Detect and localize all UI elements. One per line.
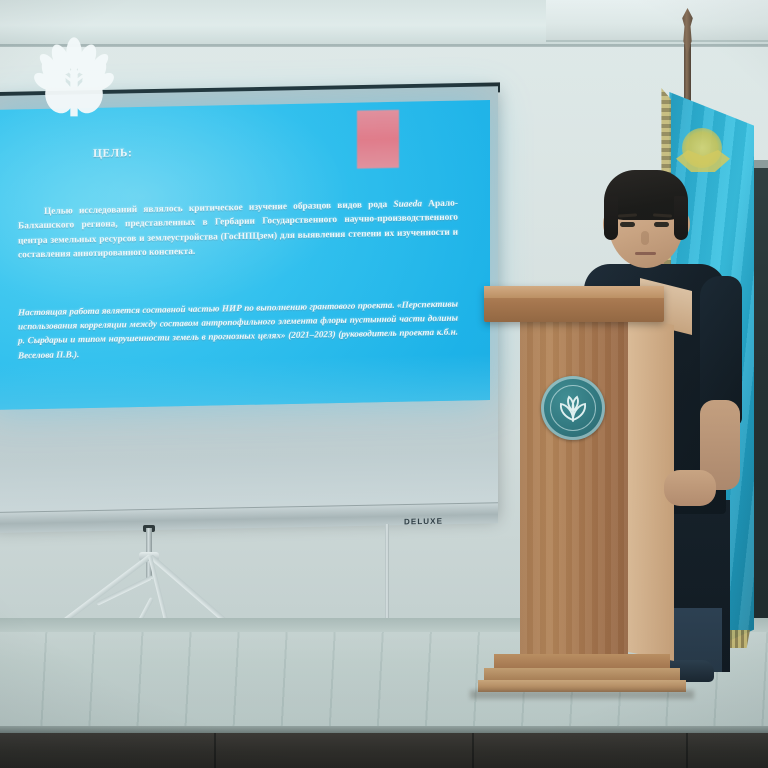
stage-front-panel: [0, 733, 768, 768]
screen-brand-label: DELUXE: [404, 517, 443, 527]
speaker-eye-right: [654, 222, 669, 227]
stage-seam: [686, 733, 688, 768]
podium-institute-seal: [541, 376, 605, 440]
tree-logo-watermark: [28, 28, 120, 120]
presentation-photo: ЦЕЛЬ: Целью исследований являлось критич…: [0, 0, 768, 768]
speaker-mouth: [635, 252, 656, 255]
speaker-nose: [641, 231, 649, 245]
speaker-hair-side-left: [604, 196, 618, 240]
seal-plant-icon: [556, 393, 590, 423]
tree-icon: [28, 28, 120, 120]
seal-inner-ring: [550, 385, 596, 431]
slide-title: ЦЕЛЬ:: [93, 147, 132, 160]
projected-slide: ЦЕЛЬ: Целью исследований являлось критич…: [0, 100, 490, 410]
stage-seam: [214, 733, 216, 768]
air-conditioner-unit: [546, 0, 768, 42]
speaker-eye-left: [620, 222, 635, 227]
speaker-hair-side-right: [674, 196, 688, 240]
speaker-hand: [664, 470, 716, 506]
slide-paragraph-1: Целью исследований являлось критическое …: [18, 197, 458, 263]
slide-paragraph-2: Настоящая работа является составной част…: [18, 297, 458, 363]
podium-lectern-edge: [484, 286, 664, 298]
podium-wood-grain: [520, 320, 628, 660]
stage-seam: [472, 733, 474, 768]
slide-accent-box: [357, 110, 399, 169]
podium-base-shadow: [470, 690, 694, 699]
